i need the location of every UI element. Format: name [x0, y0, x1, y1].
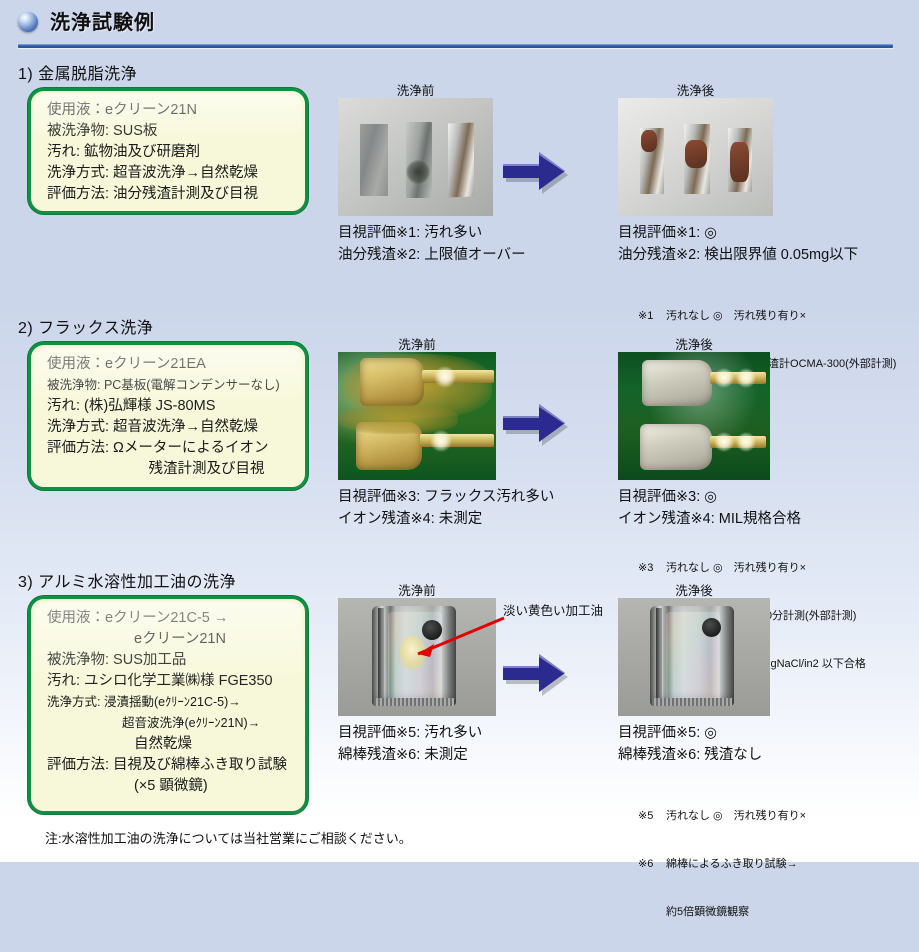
page-header: 洗浄試験例 [0, 0, 919, 52]
after-result-line: 目視評価※1: ◎ [618, 222, 717, 244]
after-result-line: 目視評価※3: ◎ [618, 486, 717, 508]
after-caption: 洗浄後 [618, 334, 770, 353]
before-result-line: 油分残渣※2: 上限値オーバー [338, 244, 526, 266]
footnote-row: 約5倍顕微鏡観察 [638, 904, 806, 920]
red-pointer-arrow-icon [396, 614, 508, 662]
condition-line: 被洗浄物: PC基板(電解コンデンサーなし) [47, 375, 293, 396]
footnote-spacer [638, 904, 666, 920]
condition-line: 自然乾燥 [47, 734, 293, 755]
header-divider [18, 44, 893, 48]
blue-right-arrow-icon [500, 400, 568, 446]
condition-line: 評価方法: 油分残渣計測及び目視 [47, 184, 293, 205]
footnote-mark: ※1 [638, 308, 666, 324]
condition-line: 評価方法: 目視及び綿棒ふき取り試験 [47, 755, 293, 776]
before-result-line: 目視評価※3: フラックス汚れ多い [338, 486, 554, 508]
footnote-row: ※6 綿棒によるふき取り試験→ [638, 856, 806, 872]
condition-line: 超音波洗浄(eｸﾘｰﾝ21N)→ [47, 713, 293, 734]
page-title: 洗浄試験例 [50, 6, 155, 35]
condition-line: 汚れ: ユシロ化学工業㈱様 FGE350 [47, 671, 293, 692]
before-caption: 洗浄前 [338, 80, 493, 99]
condition-line: 使用液：eクリーン21N [47, 100, 293, 121]
pcb-solder-clean-photo [618, 352, 770, 480]
bottom-note: 注:水溶性加工油の洗浄については当社営業にご相談ください。 [45, 828, 412, 847]
condition-line: 評価方法: Ωメーターによるイオン [47, 438, 293, 459]
blue-right-arrow-icon [500, 148, 568, 194]
footnote-row: ※1 汚れなし ◎ 汚れ残り有り× [638, 308, 896, 324]
after-result-line: 油分残渣※2: 検出限界値 0.05mg以下 [618, 244, 858, 266]
footnotes: ※5 汚れなし ◎ 汚れ残り有り× ※6 綿棒によるふき取り試験→ 約5倍顕微鏡… [638, 776, 806, 952]
blue-right-arrow-icon [500, 650, 568, 696]
after-result-line: 綿棒残渣※6: 残渣なし [618, 744, 762, 766]
condition-line: 残渣計測及び目視 [47, 459, 293, 480]
before-result-line: イオン残渣※4: 未測定 [338, 508, 482, 530]
pcb-solder-flux-dirty-photo [338, 352, 496, 480]
after-caption: 洗浄後 [618, 80, 773, 99]
conditions-box: 使用液：eクリーン21N 被洗浄物: SUS板 汚れ: 鉱物油及び研磨剤 洗浄方… [28, 88, 308, 214]
condition-line: 洗浄方式: 浸漬揺動(eｸﾘｰﾝ21C-5)→ [47, 692, 293, 713]
footnote-row: ※5 汚れなし ◎ 汚れ残り有り× [638, 808, 806, 824]
footnote-text: 汚れなし ◎ 汚れ残り有り× [666, 560, 806, 576]
metal-plates-clean-photo [618, 98, 773, 216]
footnote-text: 汚れなし ◎ 汚れ残り有り× [666, 808, 806, 824]
condition-line: 使用液：eクリーン21EA [47, 354, 293, 375]
condition-line: 洗浄方式: 超音波洗浄→自然乾燥 [47, 163, 293, 184]
footnote-row: ※3 汚れなし ◎ 汚れ残り有り× [638, 560, 866, 576]
footnote-text: 汚れなし ◎ 汚れ残り有り× [666, 308, 806, 324]
before-caption: 洗浄前 [338, 334, 496, 353]
after-result-line: イオン残渣※4: MIL規格合格 [618, 508, 801, 530]
footnote-text: 綿棒によるふき取り試験→ [666, 856, 798, 872]
footnote-mark: ※3 [638, 560, 666, 576]
footnote-mark: ※5 [638, 808, 666, 824]
blue-sphere-bullet-icon [18, 12, 38, 32]
condition-line: eクリーン21N [47, 629, 293, 650]
before-caption: 洗浄前 [338, 580, 496, 599]
condition-line: 汚れ: 鉱物油及び研磨剤 [47, 142, 293, 163]
condition-line: 汚れ: (株)弘輝様 JS-80MS [47, 396, 293, 417]
section-title: 2) フラックス洗浄 [18, 314, 153, 338]
aluminum-cylinder-clean-photo [618, 598, 770, 716]
section-title: 3) アルミ水溶性加工油の洗浄 [18, 568, 236, 592]
condition-line: 被洗浄物: SUS板 [47, 121, 293, 142]
condition-line: 洗浄方式: 超音波洗浄→自然乾燥 [47, 417, 293, 438]
after-result-line: 目視評価※5: ◎ [618, 722, 717, 744]
annotation-label: 淡い黄色い加工油 [503, 600, 603, 619]
condition-line: 使用液：eクリーン21C-5 → [47, 608, 293, 629]
section-title: 1) 金属脱脂洗浄 [18, 60, 137, 84]
after-caption: 洗浄後 [618, 580, 770, 599]
condition-line: (×5 顕微鏡) [47, 776, 293, 797]
before-result-line: 目視評価※5: 汚れ多い [338, 722, 482, 744]
conditions-box: 使用液：eクリーン21EA 被洗浄物: PC基板(電解コンデンサーなし) 汚れ:… [28, 342, 308, 490]
condition-line: 被洗浄物: SUS加工品 [47, 650, 293, 671]
footnote-text: 約5倍顕微鏡観察 [666, 904, 749, 920]
footnote-mark: ※6 [638, 856, 666, 872]
metal-plates-dirty-photo [338, 98, 493, 216]
conditions-box: 使用液：eクリーン21C-5 → eクリーン21N 被洗浄物: SUS加工品 汚… [28, 596, 308, 814]
before-result-line: 目視評価※1: 汚れ多い [338, 222, 482, 244]
before-result-line: 綿棒残渣※6: 未測定 [338, 744, 468, 766]
